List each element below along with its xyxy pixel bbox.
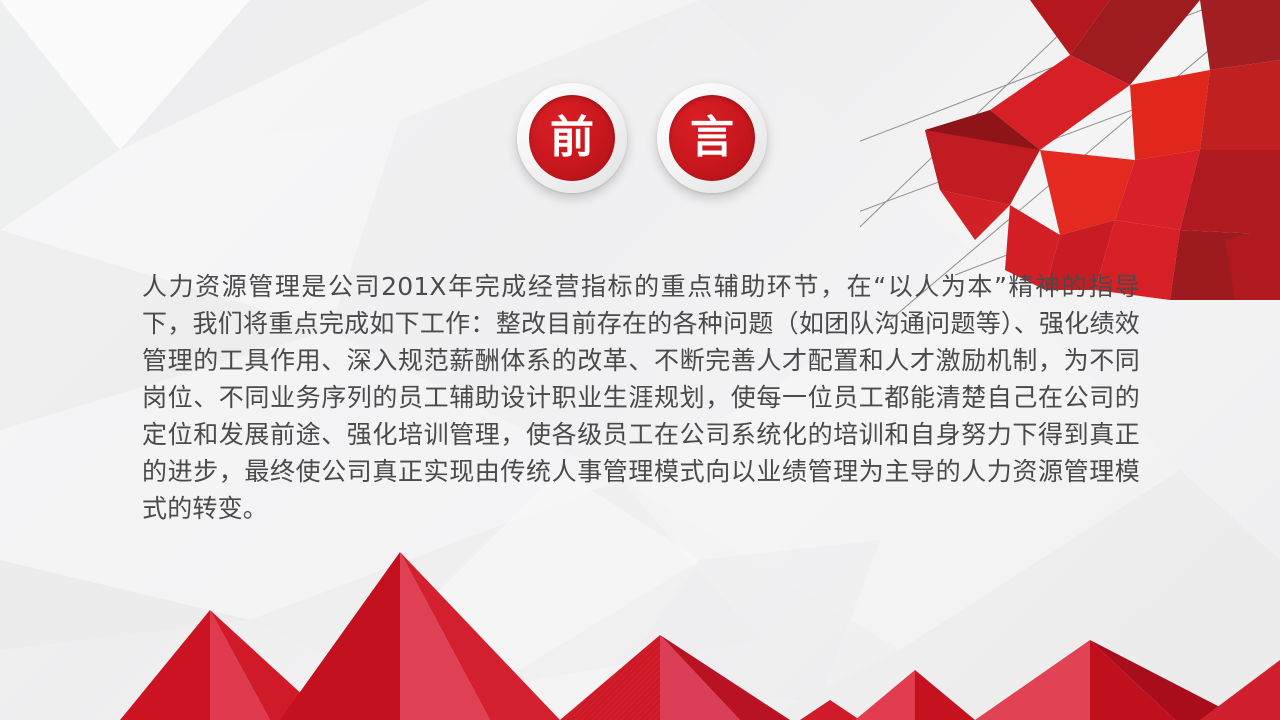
heading-badge-yan[interactable]: 言 [657, 83, 767, 193]
badge-character: 前 [550, 116, 594, 160]
body-paragraph: 人力资源管理是公司201X年完成经营指标的重点辅助环节，在“以人为本”精神的指导… [142, 268, 1140, 527]
circle-badge-icon: 言 [669, 95, 755, 181]
heading-badge-qian[interactable]: 前 [517, 83, 627, 193]
red-mountain-range-icon [0, 540, 1280, 720]
badge-character: 言 [690, 116, 734, 160]
circle-badge-icon: 前 [529, 95, 615, 181]
presentation-slide: 前 言 人力资源管理是公司201X年完成经营指标的重点辅助环节，在“以人为本”精… [0, 0, 1280, 720]
red-triangle-cluster-icon [880, 0, 1280, 300]
section-heading-badges: 前 言 [517, 83, 767, 193]
